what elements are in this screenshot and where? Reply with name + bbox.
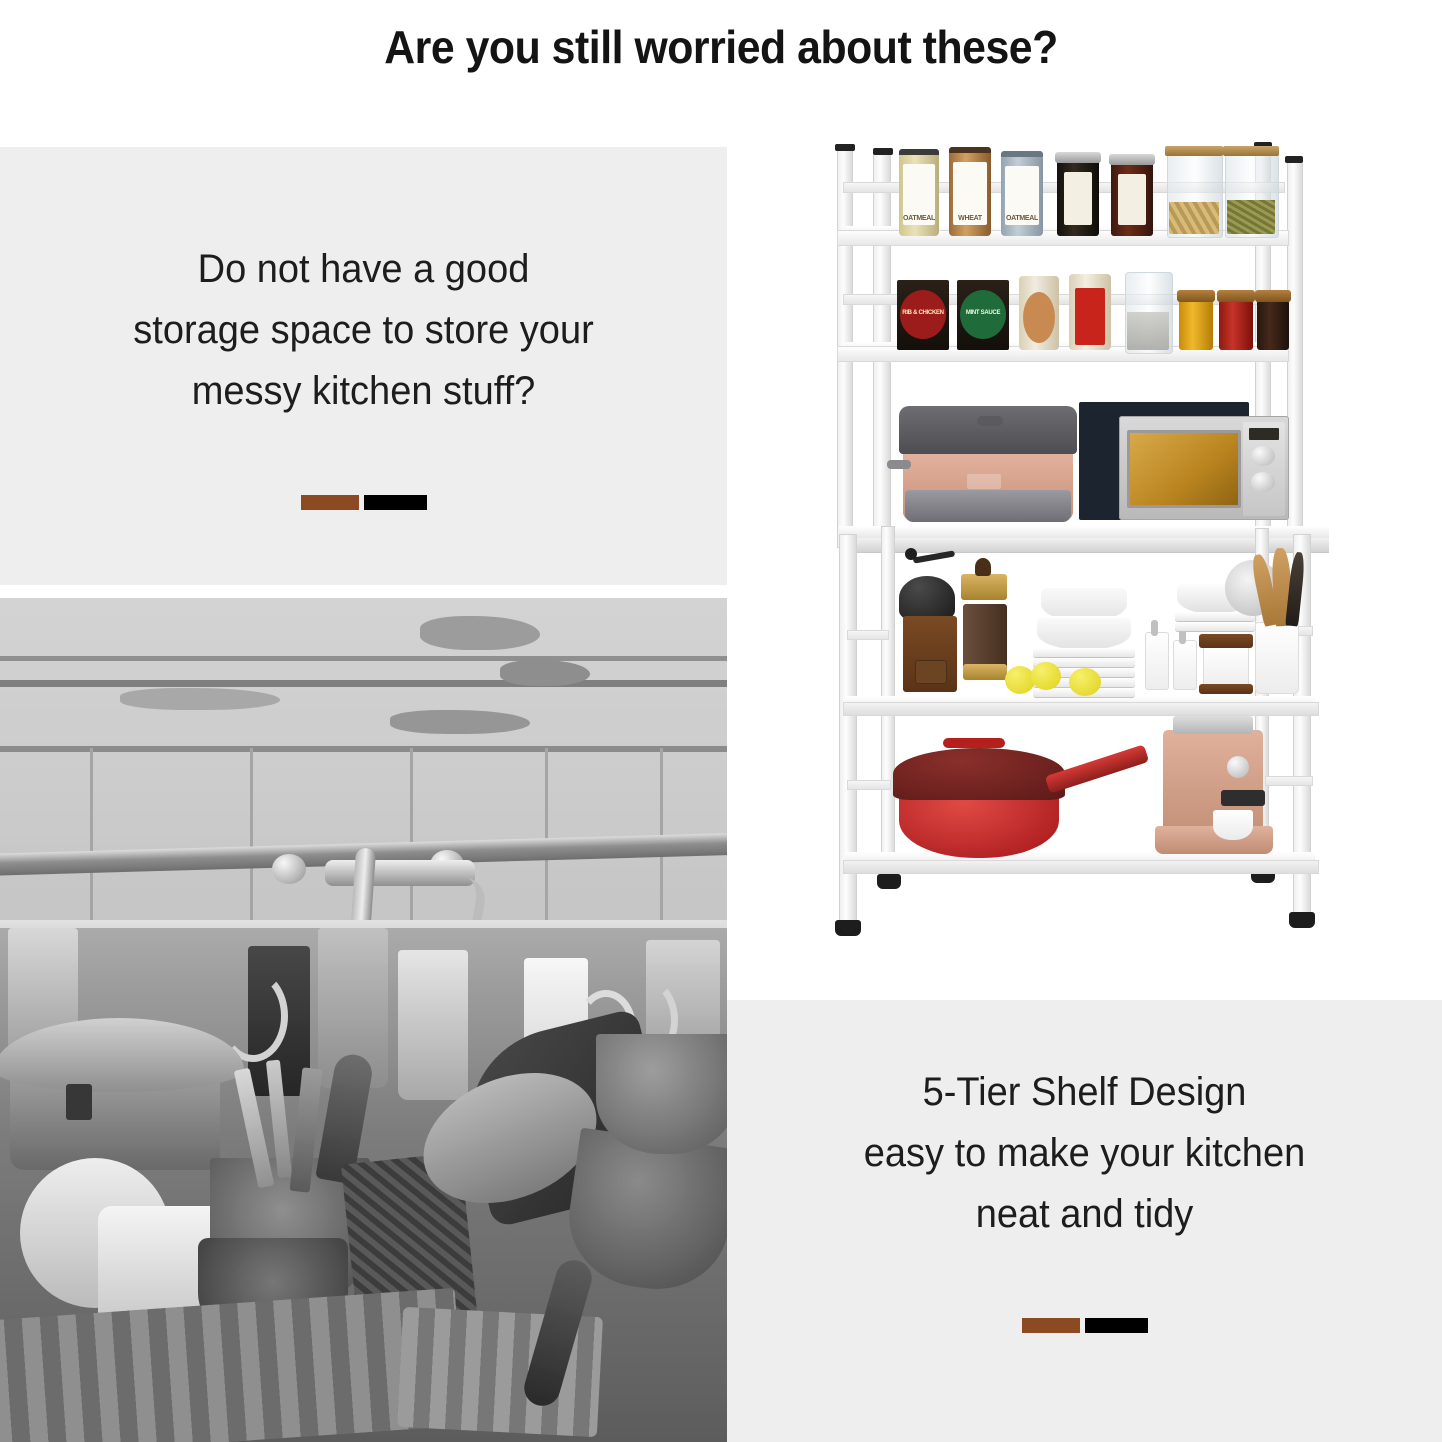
- utensil-holder: [1255, 622, 1299, 694]
- faucet-knob-left: [272, 854, 306, 884]
- divider-segment-brown: [1022, 1318, 1080, 1333]
- soap-dispenser-2: [1173, 640, 1197, 690]
- wood-lid: [1223, 146, 1279, 156]
- solution-copy-line-1: 5-Tier Shelf Design: [783, 1062, 1386, 1123]
- spice-jar-turmeric: [1179, 300, 1213, 350]
- divider-rule-top: [301, 495, 427, 510]
- grinder-crank-arm: [913, 550, 955, 563]
- cooker-side-handle: [887, 460, 911, 469]
- canister-lid: [1001, 151, 1043, 157]
- grinder-crank-knob: [905, 548, 917, 560]
- canister-lid: [899, 149, 939, 155]
- espresso-top-tray: [1173, 716, 1253, 734]
- cooker-handle: [977, 416, 1003, 426]
- divider-rule-bottom: [1022, 1318, 1148, 1333]
- soap-dispenser-1: [1145, 632, 1169, 690]
- french-press-brass-top: [961, 574, 1007, 600]
- peeling-paint: [420, 616, 540, 650]
- shelf-front-edge-tier-4: [843, 702, 1319, 716]
- shelf-front-edge-tier-5: [843, 860, 1319, 874]
- pan-lid: [893, 748, 1065, 800]
- page-title: Are you still worried about these?: [50, 22, 1391, 73]
- lemon: [1069, 668, 1101, 696]
- espresso-portafilter: [1221, 790, 1265, 806]
- pan-lid-handle: [943, 738, 1005, 748]
- coffee-grinder-dome: [899, 576, 955, 620]
- label-mint-sauce: MINT SAUCE: [960, 290, 1006, 339]
- copy-panel-problem: Do not have a good storage space to stor…: [0, 147, 727, 585]
- lemon: [1031, 662, 1061, 690]
- wall-grout-line: [0, 746, 727, 752]
- tile-seam: [250, 748, 253, 928]
- lemon: [1005, 666, 1035, 694]
- microwave-door-window: [1127, 430, 1241, 508]
- glass-tumbler: [398, 950, 468, 1100]
- divider-segment-black: [1085, 1318, 1148, 1333]
- jar-lid: [1055, 152, 1101, 163]
- spice-mill-wood-top: [1199, 634, 1253, 648]
- stacked-bowl-bottom: [1037, 616, 1131, 650]
- multi-cooker-lid: [899, 406, 1077, 454]
- spice-jar-clove: [1257, 300, 1289, 350]
- wall-grout-line: [0, 656, 727, 661]
- wood-lid: [1165, 146, 1223, 156]
- pasta-contents: [1169, 202, 1219, 234]
- shelf-foot-back-left: [877, 874, 901, 889]
- french-press-knob: [975, 558, 991, 576]
- peeling-paint: [120, 688, 280, 710]
- cooker-badge: [967, 474, 1001, 489]
- problem-copy-line-3: messy kitchen stuff?: [58, 361, 669, 422]
- solution-copy-text: 5-Tier Shelf Design easy to make your ki…: [745, 1062, 1424, 1244]
- divider-segment-brown: [301, 495, 359, 510]
- canister-label: [1023, 292, 1055, 343]
- jar-lid: [1109, 154, 1155, 165]
- spice-jar-paprika: [1219, 300, 1253, 350]
- metal-bowl: [596, 1034, 727, 1154]
- spice-mill-wood-base: [1199, 684, 1253, 694]
- messy-kitchen-sink-photo: [0, 598, 727, 1442]
- side-rail-left-tier-5: [847, 780, 891, 790]
- microwave-display: [1249, 428, 1279, 440]
- side-rail-left-tier-4: [847, 630, 889, 640]
- multi-cooker-base-ring: [905, 490, 1071, 522]
- copy-panel-solution: 5-Tier Shelf Design easy to make your ki…: [727, 1000, 1442, 1442]
- problem-copy-line-1: Do not have a good: [58, 239, 669, 300]
- wood-spice-lid: [1217, 290, 1255, 302]
- infographic-page: Are you still worried about these? Do no…: [0, 0, 1442, 1442]
- side-rail-right-tier-5: [1265, 776, 1313, 786]
- espresso-cup: [1213, 810, 1253, 840]
- solution-copy-line-3: neat and tidy: [783, 1184, 1386, 1245]
- problem-copy-text: Do not have a good storage space to stor…: [18, 239, 709, 421]
- peeling-paint: [500, 660, 590, 686]
- shelf-foot-front-right: [1289, 912, 1315, 928]
- dispenser-pump: [1151, 620, 1158, 636]
- espresso-knob: [1227, 756, 1249, 778]
- peeling-paint: [390, 710, 530, 734]
- canister-lid: [949, 147, 991, 153]
- jar-label: [1064, 172, 1092, 225]
- microwave-knob-upper: [1251, 446, 1275, 466]
- ceramic-spice-mill-body: [1203, 646, 1249, 688]
- microwave-knob-lower: [1251, 472, 1275, 492]
- canister-label: OATMEAL: [903, 164, 935, 225]
- wall-grout-line: [0, 680, 727, 687]
- wood-spice-lid: [1177, 290, 1215, 302]
- french-press-base: [963, 664, 1007, 680]
- label-rib-chicken-sauce: RIB & CHICKEN: [900, 290, 946, 339]
- solution-copy-line-2: easy to make your kitchen: [783, 1123, 1386, 1184]
- lentil-contents: [1227, 200, 1275, 234]
- shelf-foot-front-left: [835, 920, 861, 936]
- problem-copy-line-2: storage space to store your: [58, 300, 669, 361]
- lid-knob: [66, 1084, 92, 1120]
- wood-spice-lid: [1255, 290, 1291, 302]
- kitchen-shelf-product-photo: OATMEAL WHEAT OATMEAL RIB & CHICKEN MINT…: [727, 130, 1442, 1000]
- hutch-post-right-front: [1287, 160, 1303, 540]
- faucet-body: [325, 860, 475, 886]
- enamel-plate: [1175, 622, 1255, 631]
- post-cap: [835, 144, 855, 151]
- canister-label: OATMEAL: [1005, 166, 1039, 225]
- canister-label-red: [1075, 288, 1105, 345]
- grinder-drawer: [915, 660, 947, 684]
- tile-seam: [90, 748, 93, 928]
- tile-seam: [410, 748, 413, 928]
- post-cap: [873, 148, 893, 155]
- jar-contents: [1127, 312, 1169, 350]
- post-cap: [1285, 156, 1303, 163]
- jar-label: [1118, 174, 1146, 225]
- stacked-plate: [1033, 648, 1135, 657]
- canister-label: WHEAT: [953, 162, 987, 225]
- divider-segment-black: [364, 495, 427, 510]
